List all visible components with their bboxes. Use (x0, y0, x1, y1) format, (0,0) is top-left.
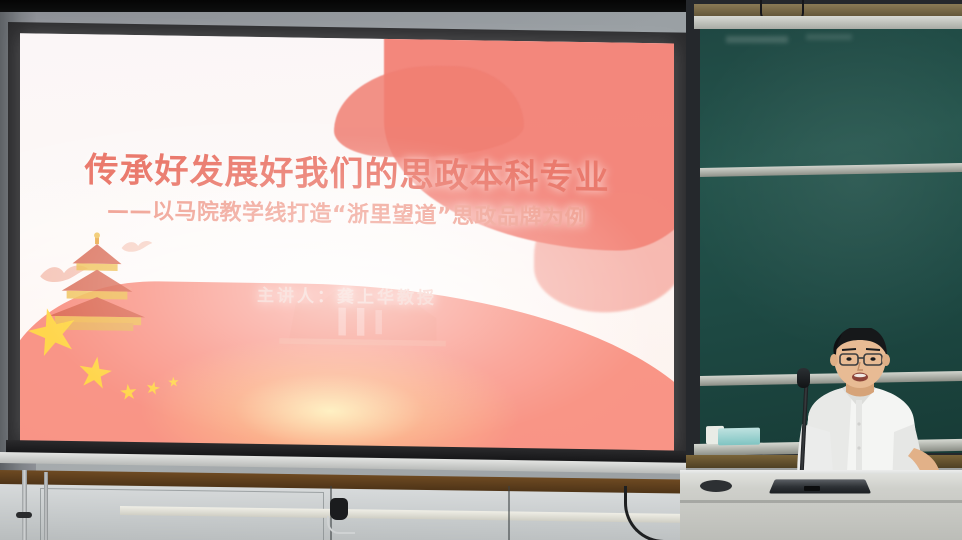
stand-knob (16, 512, 32, 518)
projection-screen-frame: 传承好发展好我们的思政本科专业 ——以马院教学线打造“浙里望道”思政品牌为例 主… (8, 22, 686, 463)
cable-grommet-icon (700, 480, 732, 492)
screen-stand-pole (44, 472, 48, 540)
projection-screen-surface: 传承好发展好我们的思政本科专业 ——以马院教学线打造“浙里望道”思政品牌为例 主… (20, 33, 674, 451)
lecture-hall-scene: 传承好发展好我们的思政本科专业 ——以马院教学线打造“浙里望道”思政品牌为例 主… (0, 0, 962, 540)
clamp-cable (327, 516, 355, 534)
laptop-icon[interactable] (769, 479, 871, 493)
blackboard-top-rail (694, 16, 962, 29)
screen-stand-pole (22, 470, 27, 540)
sun-glow (140, 333, 520, 451)
podium-edge (680, 500, 962, 503)
slide-title: 传承好发展好我们的思政本科专业 (20, 141, 674, 200)
laptop-port (804, 486, 820, 491)
microphone-head-icon (797, 368, 810, 388)
chalk-smudge (806, 34, 852, 40)
chalk-smudge (726, 36, 788, 43)
whiteboard-seam (508, 486, 510, 540)
